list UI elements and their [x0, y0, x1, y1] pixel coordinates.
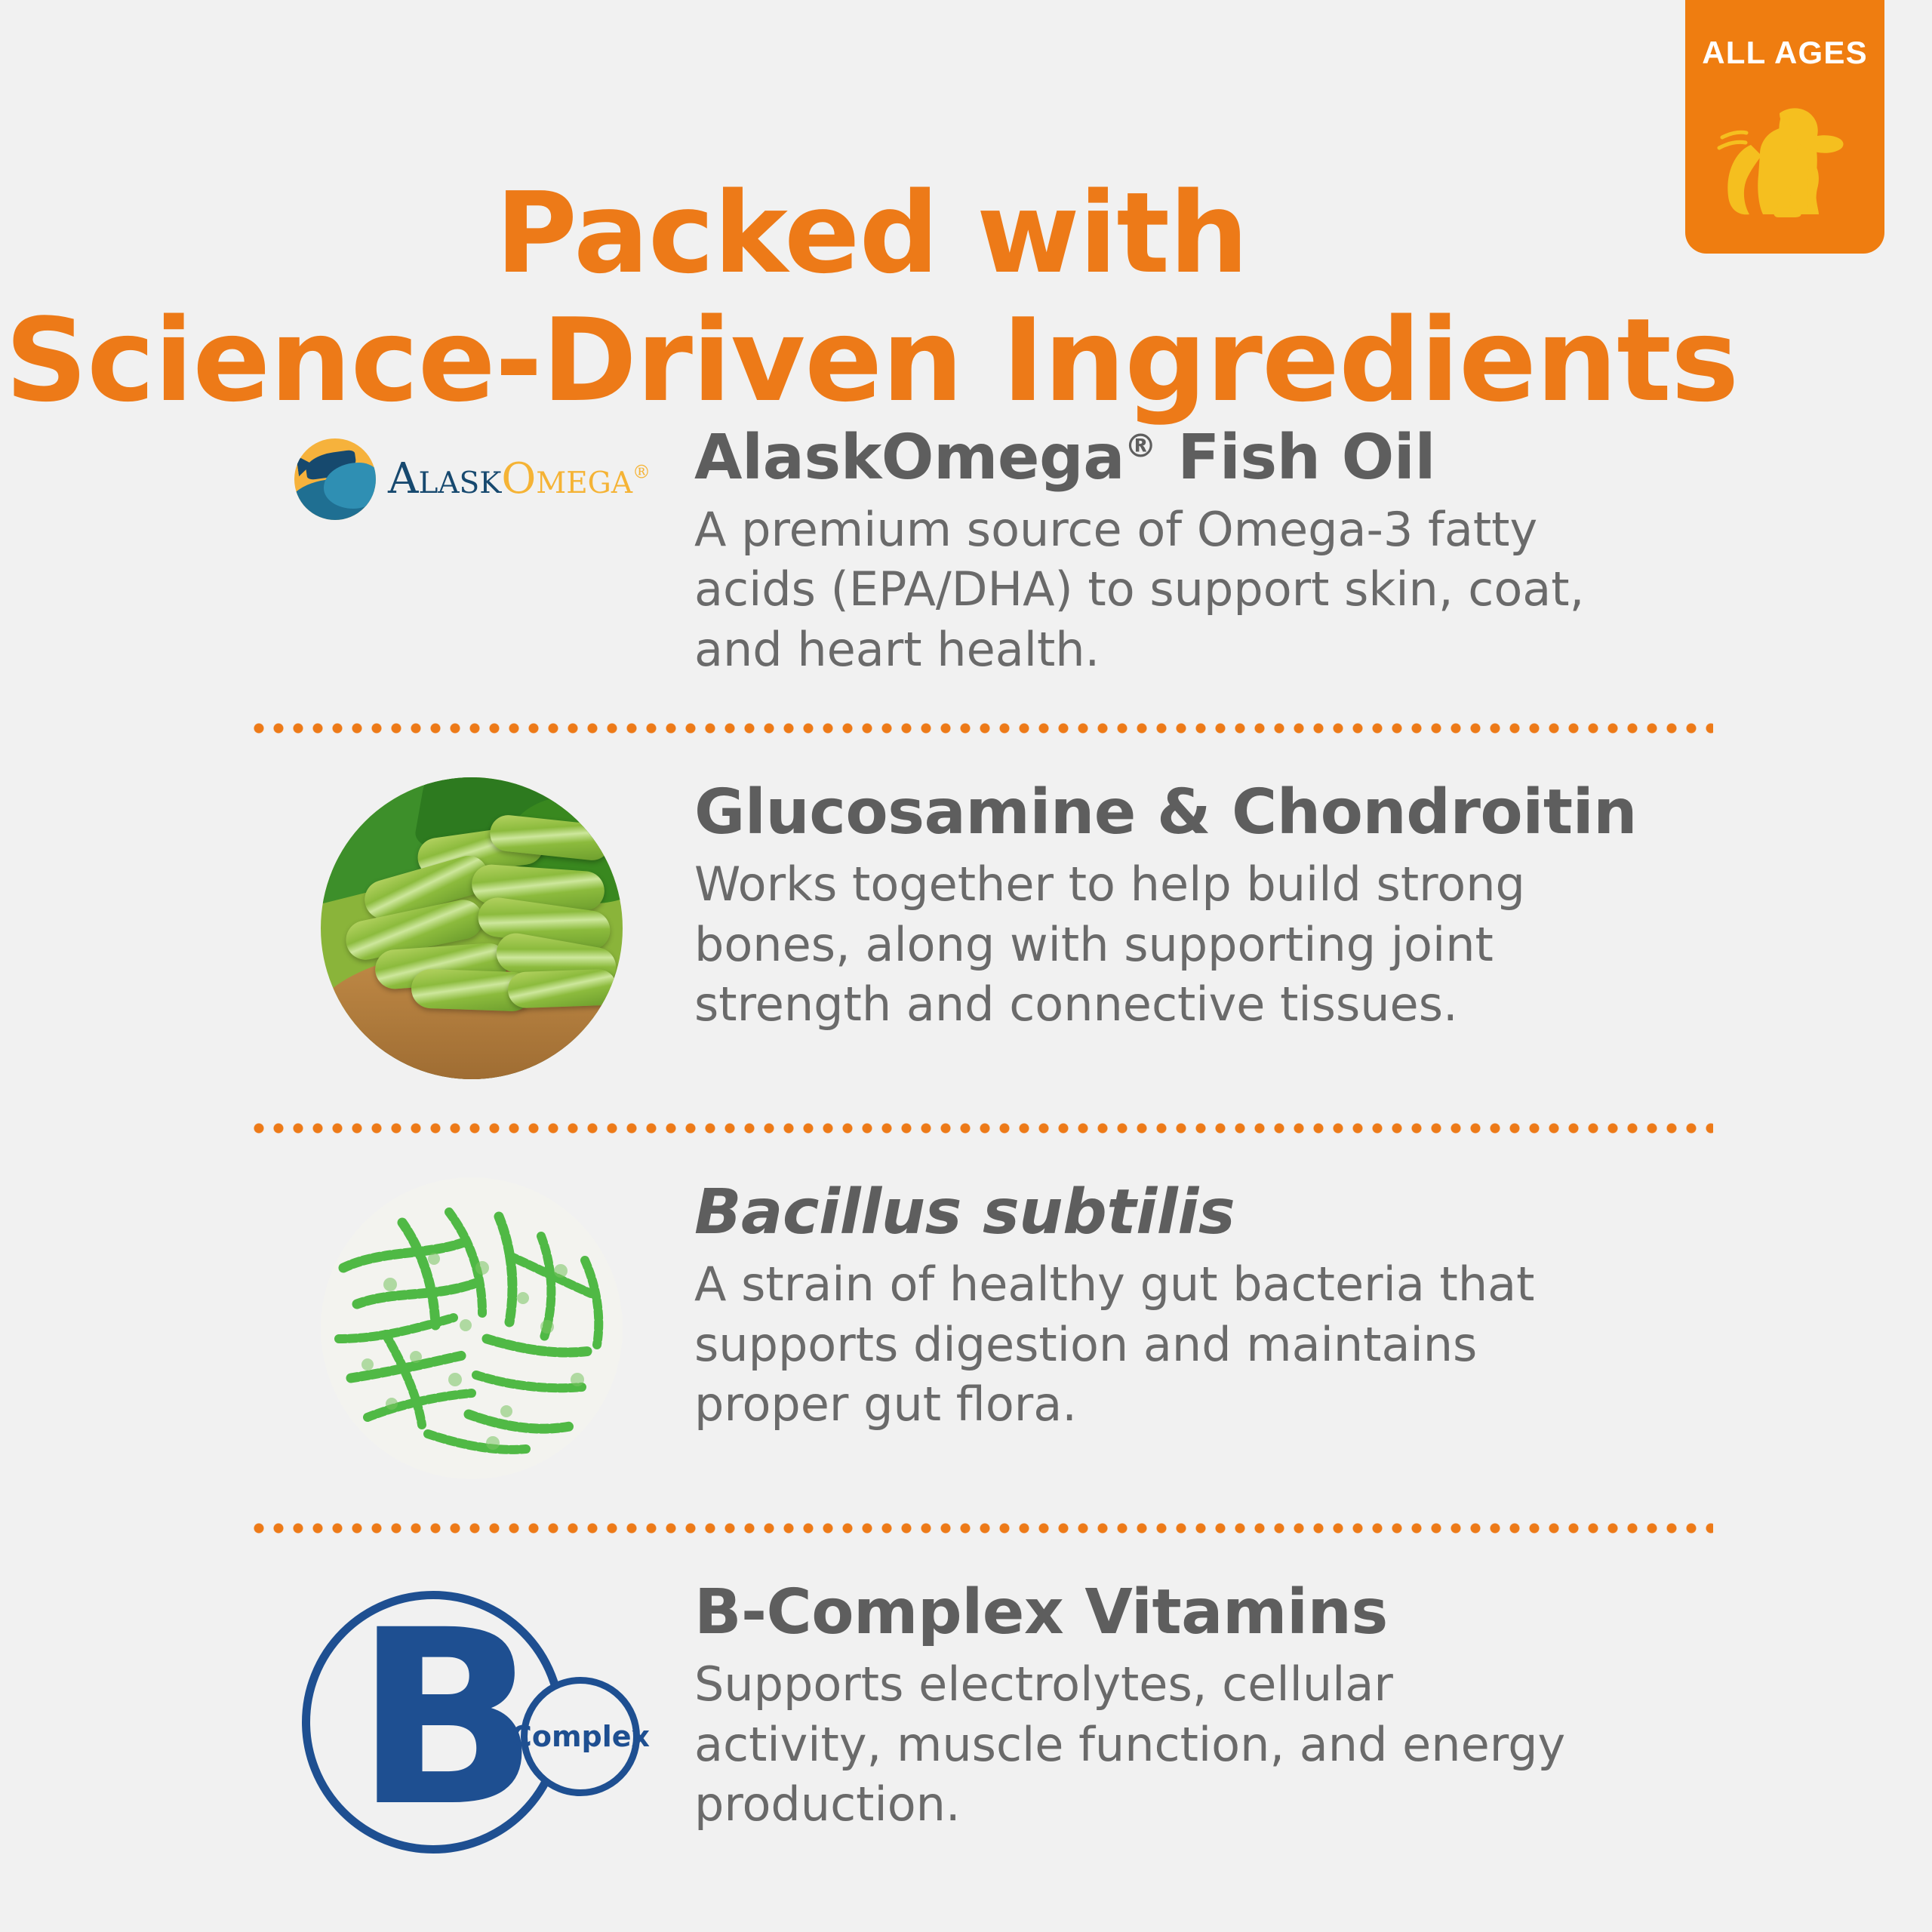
- ingredient-list: AlaskOmega® AlaskOmega® Fish Oil A premi…: [0, 423, 1932, 1879]
- dotted-divider-1: [249, 723, 1713, 734]
- alaskomega-logo: AlaskOmega®: [294, 423, 649, 536]
- ingredient-title-main: AlaskOmega: [694, 422, 1124, 494]
- b-complex-logo: B Complex: [294, 1577, 649, 1879]
- alaskomega-wordmark-omega: Omega: [501, 454, 632, 503]
- all-ages-label: ALL AGES: [1702, 35, 1868, 71]
- page-title-line-2: Science-Driven Ingredients: [0, 297, 1743, 425]
- alaskomega-wordmark: AlaskOmega®: [388, 458, 651, 500]
- alaskomega-fish-wave-icon: [294, 438, 376, 520]
- ingredient-media-b-complex: B Complex: [249, 1577, 694, 1879]
- ingredient-media-alaskomega: AlaskOmega®: [249, 423, 694, 536]
- ingredient-row-bacillus-subtilis: Bacillus subtilis A strain of healthy gu…: [0, 1177, 1932, 1479]
- ingredient-title-bacillus: Bacillus subtilis: [694, 1180, 1615, 1245]
- ingredient-title-alaskomega: AlaskOmega® Fish Oil: [694, 426, 1615, 491]
- ingredient-title-glucosamine: Glucosamine & Chondroitin: [694, 780, 1637, 845]
- ingredient-text-glucosamine: Glucosamine & Chondroitin Works together…: [694, 777, 1932, 1034]
- ingredient-description-b-complex: Supports electrolytes, cellular activity…: [694, 1654, 1585, 1834]
- page-title: Packed with Science-Driven Ingredients: [0, 171, 1743, 425]
- dotted-divider-3: [249, 1523, 1713, 1534]
- ingredient-description-bacillus: A strain of healthy gut bacteria that su…: [694, 1254, 1585, 1434]
- page-title-line-1: Packed with: [0, 171, 1743, 297]
- alaskomega-wordmark-alask: Alask: [388, 454, 501, 503]
- registered-mark: ®: [1124, 428, 1156, 466]
- ingredient-media-glucosamine: [249, 777, 694, 1079]
- ingredient-text-alaskomega: AlaskOmega® Fish Oil A premium source of…: [694, 423, 1932, 679]
- ingredient-title-rest: Fish Oil: [1156, 422, 1435, 494]
- ingredient-row-b-complex-vitamins: B Complex B-Complex Vitamins Supports el…: [0, 1577, 1932, 1879]
- ingredient-title-b-complex: B-Complex Vitamins: [694, 1580, 1615, 1645]
- bacteria-microscope-photo: [321, 1177, 623, 1479]
- ingredient-description-glucosamine: Works together to help build strong bone…: [694, 854, 1585, 1034]
- ingredient-description-alaskomega: A premium source of Omega-3 fatty acids …: [694, 500, 1585, 679]
- alaskomega-wordmark-registered: ®: [632, 461, 651, 482]
- ingredient-text-b-complex: B-Complex Vitamins Supports electrolytes…: [694, 1577, 1932, 1834]
- ingredient-row-glucosamine-chondroitin: Glucosamine & Chondroitin Works together…: [0, 777, 1932, 1079]
- ingredient-media-bacillus: [249, 1177, 694, 1479]
- ingredient-text-bacillus: Bacillus subtilis A strain of healthy gu…: [694, 1177, 1932, 1434]
- dotted-divider-2: [249, 1123, 1713, 1134]
- green-capsules-photo: [321, 777, 623, 1079]
- b-complex-small-circle-label: Complex: [511, 1720, 650, 1753]
- ingredient-row-alaskomega-fish-oil: AlaskOmega® AlaskOmega® Fish Oil A premi…: [0, 423, 1932, 679]
- b-complex-small-circle: Complex: [521, 1677, 640, 1796]
